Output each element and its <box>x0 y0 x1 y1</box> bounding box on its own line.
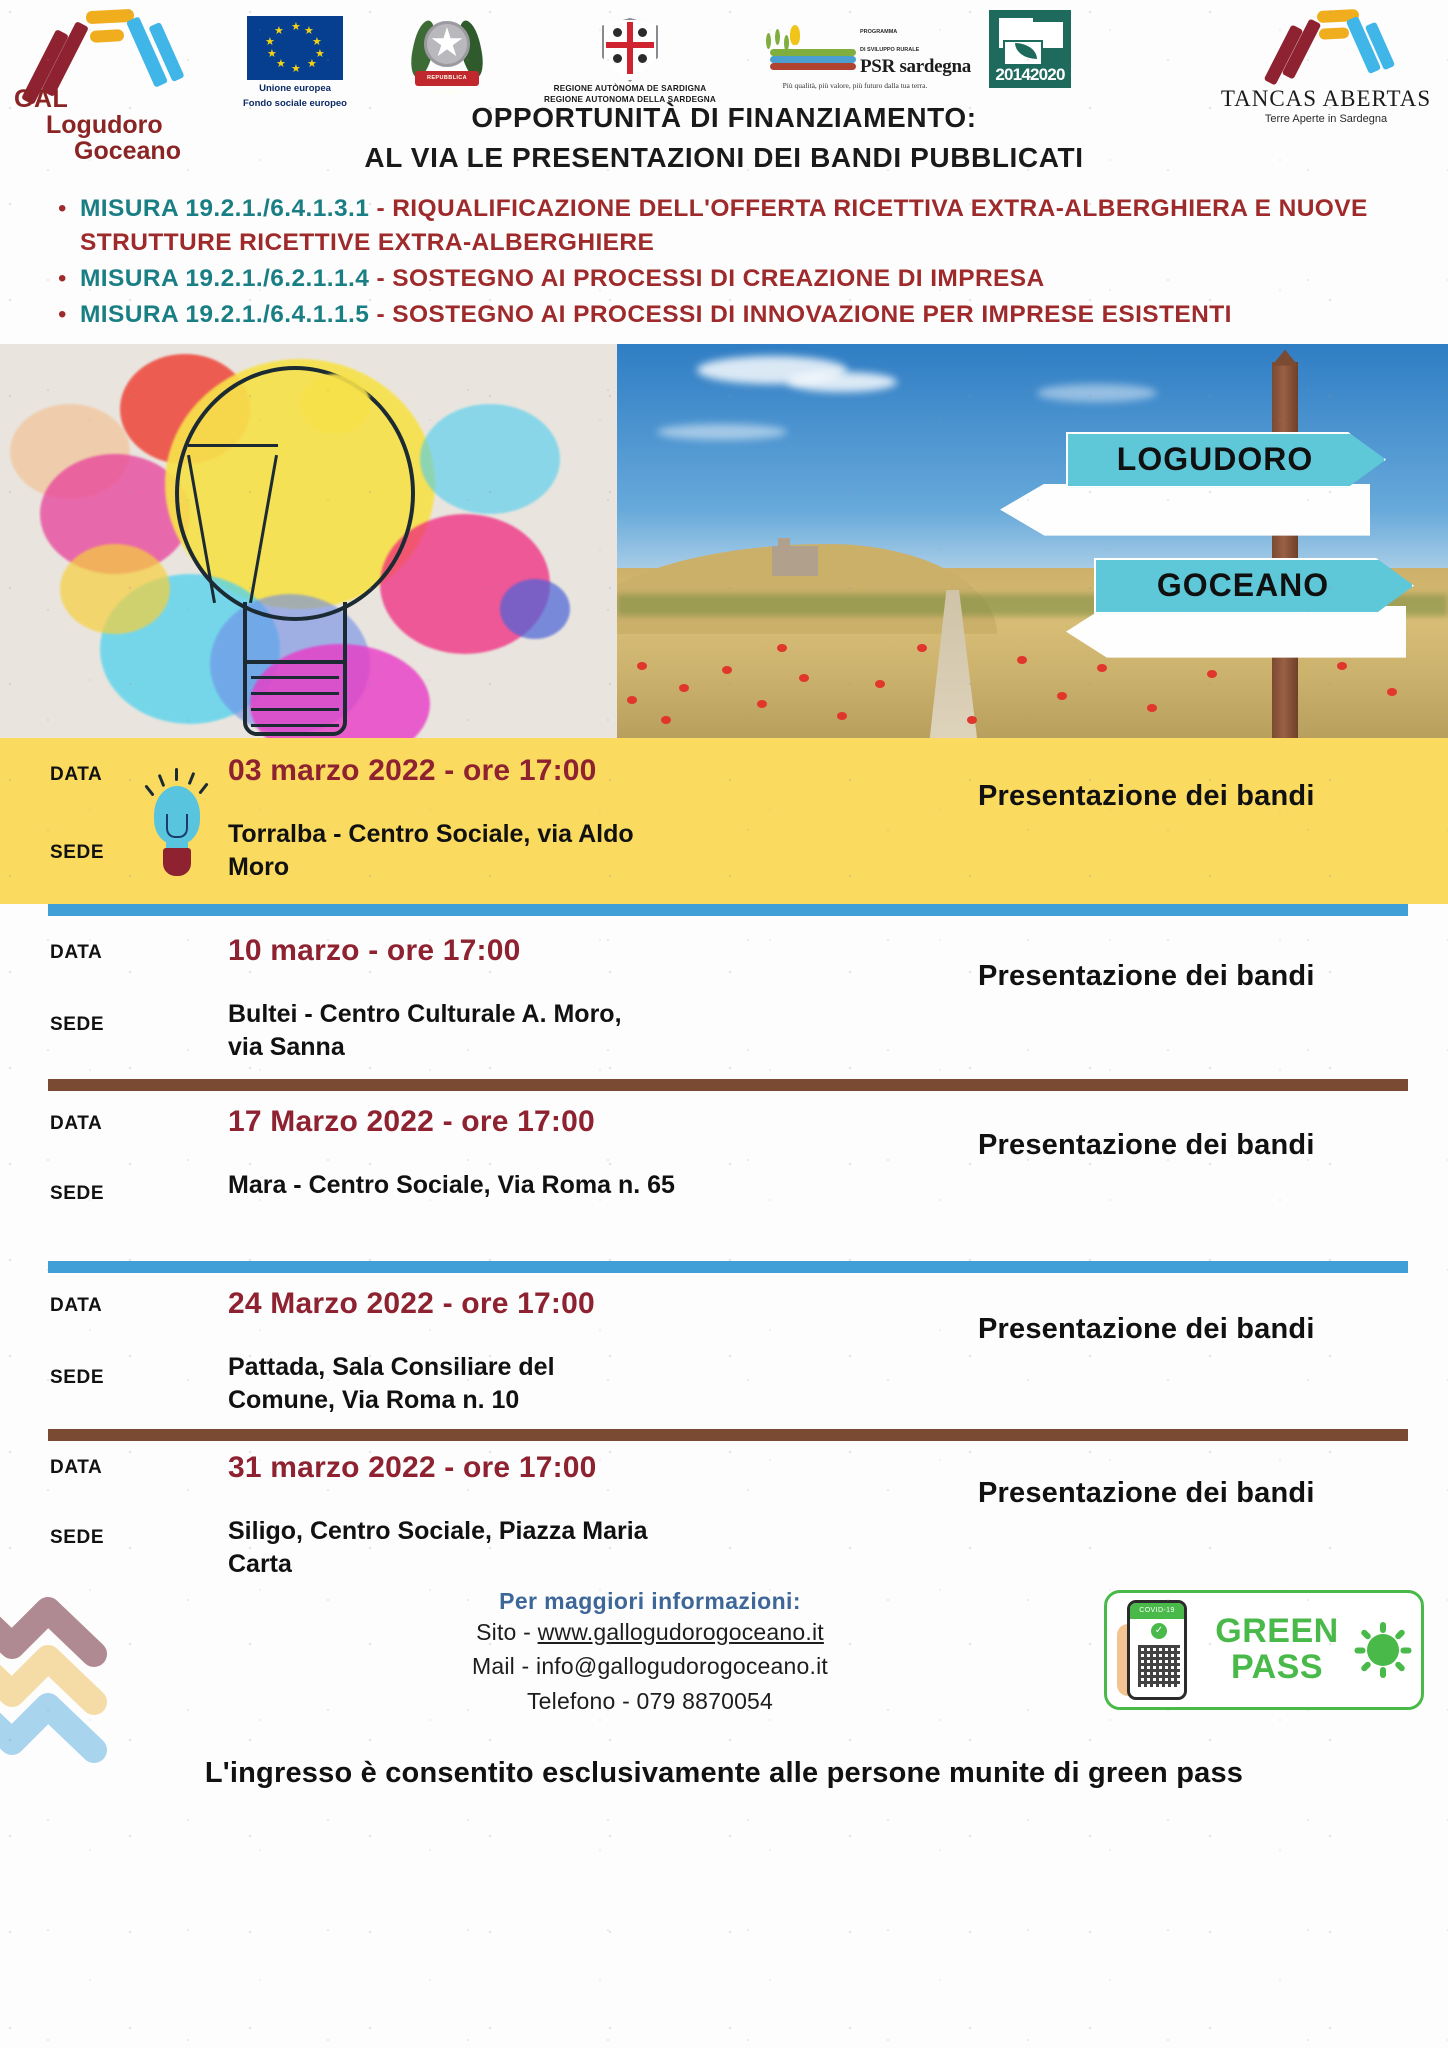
row-divider-blue <box>48 1261 1408 1273</box>
measure-item: • MISURA 19.2.1./6.2.1.1.4 - SOSTEGNO AI… <box>58 262 1408 296</box>
contact-phone: Telefono - 079 8870054 <box>300 1684 1000 1719</box>
measure-description: - SOSTEGNO AI PROCESSI DI CREAZIONE DI I… <box>376 265 1044 292</box>
blank-sign-top <box>1000 484 1370 536</box>
row-labels: DATA SEDE <box>0 1287 128 1389</box>
schedule-row[interactable]: DATA SEDE 24 Marzo 2022 - ore 17:00 Patt… <box>0 1273 1448 1430</box>
measures-list: • MISURA 19.2.1./6.4.1.3.1 - RIQUALIFICA… <box>0 178 1448 344</box>
bullet-icon: • <box>58 298 80 332</box>
lightbulb-splatter-artwork <box>0 344 617 738</box>
psr-small-1: PROGRAMMA <box>860 29 897 35</box>
photo-strip: LOGUDORO GOCEANO <box>0 344 1448 738</box>
measure-code: MISURA 19.2.1./6.4.1.1.5 <box>80 301 369 328</box>
label-data: DATA <box>50 942 128 964</box>
row-details: 24 Marzo 2022 - ore 17:00 Pattada, Sala … <box>228 1287 978 1418</box>
poster-page: GAL Logudoro Goceano ★ ★ ★ ★ ★ ★ ★ ★ ★ ★ <box>0 0 1448 2048</box>
event-title: Presentazione dei bandi <box>978 780 1315 813</box>
green-pass-badge: COVID-19 ✓ GREEN PASS <box>1104 1590 1424 1710</box>
event-title: Presentazione dei bandi <box>978 1477 1315 1510</box>
row-event-type: Presentazione dei bandi <box>978 934 1448 993</box>
event-title: Presentazione dei bandi <box>978 1129 1315 1162</box>
stone-ruin <box>772 546 818 576</box>
event-venue: Mara - Centro Sociale, Via Roma n. 65 <box>228 1169 688 1202</box>
event-date: 03 marzo 2022 - ore 17:00 <box>228 754 978 788</box>
schedule-row[interactable]: DATA SEDE 03 marzo 2022 - ore 17:00 <box>0 738 1448 905</box>
virus-icon <box>1355 1622 1411 1678</box>
emblem-ribbon-text: REPUBBLICA ITALIANA <box>415 71 479 86</box>
label-data: DATA <box>50 1457 128 1479</box>
row-details: 10 marzo - ore 17:00 Bultei - Centro Cul… <box>228 934 978 1065</box>
event-date: 10 marzo - ore 17:00 <box>228 934 978 968</box>
schedule-list: DATA SEDE 03 marzo 2022 - ore 17:00 <box>0 738 1448 1586</box>
title-line-1: OPPORTUNITÀ DI FINANZIAMENTO: <box>0 98 1448 138</box>
schedule-row[interactable]: DATA SEDE 17 Marzo 2022 - ore 17:00 Mara… <box>0 1091 1448 1217</box>
sardinia-shield-icon <box>600 14 660 84</box>
label-sede: SEDE <box>50 1367 128 1389</box>
eu-flag-icon: ★ ★ ★ ★ ★ ★ ★ ★ ★ ★ <box>247 16 343 80</box>
psr-2020-years: 20142020 <box>995 65 1064 84</box>
italian-republic-emblem: REPUBBLICA ITALIANA <box>392 12 502 88</box>
qr-code-icon <box>1138 1645 1180 1687</box>
label-data: DATA <box>50 1113 128 1135</box>
row-labels: DATA SEDE <box>0 1105 128 1205</box>
covid-label: COVID-19 <box>1130 1603 1184 1619</box>
row-event-type: Presentazione dei bandi <box>978 1451 1448 1510</box>
event-title: Presentazione dei bandi <box>978 960 1315 993</box>
psr-wordmark: PSR sardegna <box>860 56 971 78</box>
phone-qr-icon: COVID-19 ✓ <box>1117 1598 1199 1702</box>
republic-emblem-icon: REPUBBLICA ITALIANA <box>411 12 483 88</box>
site-url[interactable]: www.gallogudorogoceano.it <box>538 1619 824 1645</box>
row-details: 31 marzo 2022 - ore 17:00 Siligo, Centro… <box>228 1451 978 1582</box>
sardinia-caption-1: REGIONE AUTÒNOMA DE SARDIGNA <box>510 84 750 95</box>
bullet-icon: • <box>58 192 80 226</box>
green-pass-text: GREEN PASS <box>1199 1614 1355 1685</box>
label-data: DATA <box>50 764 128 786</box>
green-pass-line2: PASS <box>1199 1650 1355 1685</box>
contacts-heading: Per maggiori informazioni: <box>300 1588 1000 1615</box>
measure-item: • MISURA 19.2.1./6.4.1.3.1 - RIQUALIFICA… <box>58 192 1408 260</box>
measure-code: MISURA 19.2.1./6.2.1.1.4 <box>80 265 369 292</box>
site-label: Sito - <box>476 1619 537 1645</box>
row-event-type: Presentazione dei bandi <box>978 1105 1448 1162</box>
row-labels: DATA SEDE <box>0 934 128 1036</box>
footer: Per maggiori informazioni: Sito - www.ga… <box>0 1586 1448 1796</box>
row-divider-brown <box>48 1429 1408 1441</box>
measure-description: - SOSTEGNO AI PROCESSI DI INNOVAZIONE PE… <box>376 301 1231 328</box>
event-date: 24 Marzo 2022 - ore 17:00 <box>228 1287 978 1321</box>
header: GAL Logudoro Goceano ★ ★ ★ ★ ★ ★ ★ ★ ★ ★ <box>0 0 1448 178</box>
psr-wave-icon <box>760 27 860 71</box>
sign-logudoro: LOGUDORO <box>1066 432 1386 488</box>
event-venue: Torralba - Centro Sociale, via Aldo Moro <box>228 818 658 885</box>
title-line-2: AL VIA LE PRESENTAZIONI DEI BANDI PUBBLI… <box>0 138 1448 178</box>
green-pass-line1: GREEN <box>1199 1614 1355 1649</box>
psr-claim: Più qualità, più valore, più futuro dall… <box>760 81 950 90</box>
contact-info: Per maggiori informazioni: Sito - www.ga… <box>300 1588 1000 1719</box>
decorative-chevrons <box>0 1588 162 1768</box>
tancas-chevron-icon <box>1261 8 1391 84</box>
event-date: 17 Marzo 2022 - ore 17:00 <box>228 1105 978 1139</box>
psr-2014-2020-logo: 20142020 <box>980 10 1080 88</box>
eu-logo-caption-1: Unione europea <box>220 83 370 95</box>
sign-goceano: GOCEANO <box>1094 558 1414 614</box>
row-labels: DATA SEDE <box>0 1451 128 1549</box>
schedule-row[interactable]: DATA SEDE 10 marzo - ore 17:00 Bultei - … <box>0 916 1448 1079</box>
schedule-row[interactable]: DATA SEDE 31 marzo 2022 - ore 17:00 Sili… <box>0 1441 1448 1586</box>
label-sede: SEDE <box>50 1014 128 1036</box>
label-sede: SEDE <box>50 842 128 864</box>
signpost-pole <box>1272 362 1298 738</box>
bullet-icon: • <box>58 262 80 296</box>
measure-item: • MISURA 19.2.1./6.4.1.1.5 - SOSTEGNO AI… <box>58 298 1408 332</box>
bulb-neck-outline <box>243 602 347 664</box>
psr-small-2: DI SVILUPPO RURALE <box>860 47 919 53</box>
row-event-type: Presentazione dei bandi <box>978 1287 1448 1346</box>
countryside-signpost-photo: LOGUDORO GOCEANO <box>617 344 1448 738</box>
contact-mail[interactable]: Mail - info@gallogudorogoceano.it <box>300 1649 1000 1684</box>
measure-code: MISURA 19.2.1./6.4.1.3.1 <box>80 195 369 222</box>
bulb-screw-base <box>243 660 347 736</box>
label-sede: SEDE <box>50 1527 128 1549</box>
event-venue: Pattada, Sala Consiliare del Comune, Via… <box>228 1351 648 1418</box>
row-details: 17 Marzo 2022 - ore 17:00 Mara - Centro … <box>228 1105 978 1202</box>
label-data: DATA <box>50 1295 128 1317</box>
row-event-type: Presentazione dei bandi <box>978 754 1448 813</box>
row-details: 03 marzo 2022 - ore 17:00 Torralba - Cen… <box>228 754 978 885</box>
check-icon: ✓ <box>1151 1623 1167 1639</box>
row-divider-brown <box>48 1079 1408 1091</box>
event-date: 31 marzo 2022 - ore 17:00 <box>228 1451 978 1485</box>
eu-flag-logo: ★ ★ ★ ★ ★ ★ ★ ★ ★ ★ Unione europea Fondo… <box>220 16 370 110</box>
event-venue: Siligo, Centro Sociale, Piazza Maria Car… <box>228 1515 648 1582</box>
row-labels: DATA SEDE <box>0 754 128 864</box>
psr-sardegna-logo: PROGRAMMA DI SVILUPPO RURALE PSR sardegn… <box>760 20 950 90</box>
green-pass-notice: L'ingresso è consentito esclusivamente a… <box>0 1757 1448 1790</box>
sardinia-region-emblem: REGIONE AUTÒNOMA DE SARDIGNA REGIONE AUT… <box>510 14 750 105</box>
chevron-zigzag-icon <box>0 1588 162 1768</box>
contact-site[interactable]: Sito - www.gallogudorogoceano.it <box>300 1615 1000 1650</box>
row-divider-blue <box>48 904 1408 916</box>
label-sede: SEDE <box>50 1183 128 1205</box>
event-venue: Bultei - Centro Culturale A. Moro, via S… <box>228 998 658 1065</box>
event-title: Presentazione dei bandi <box>978 1313 1315 1346</box>
page-title: OPPORTUNITÀ DI FINANZIAMENTO: AL VIA LE … <box>0 98 1448 178</box>
psr-2020-icon: 20142020 <box>989 10 1071 88</box>
